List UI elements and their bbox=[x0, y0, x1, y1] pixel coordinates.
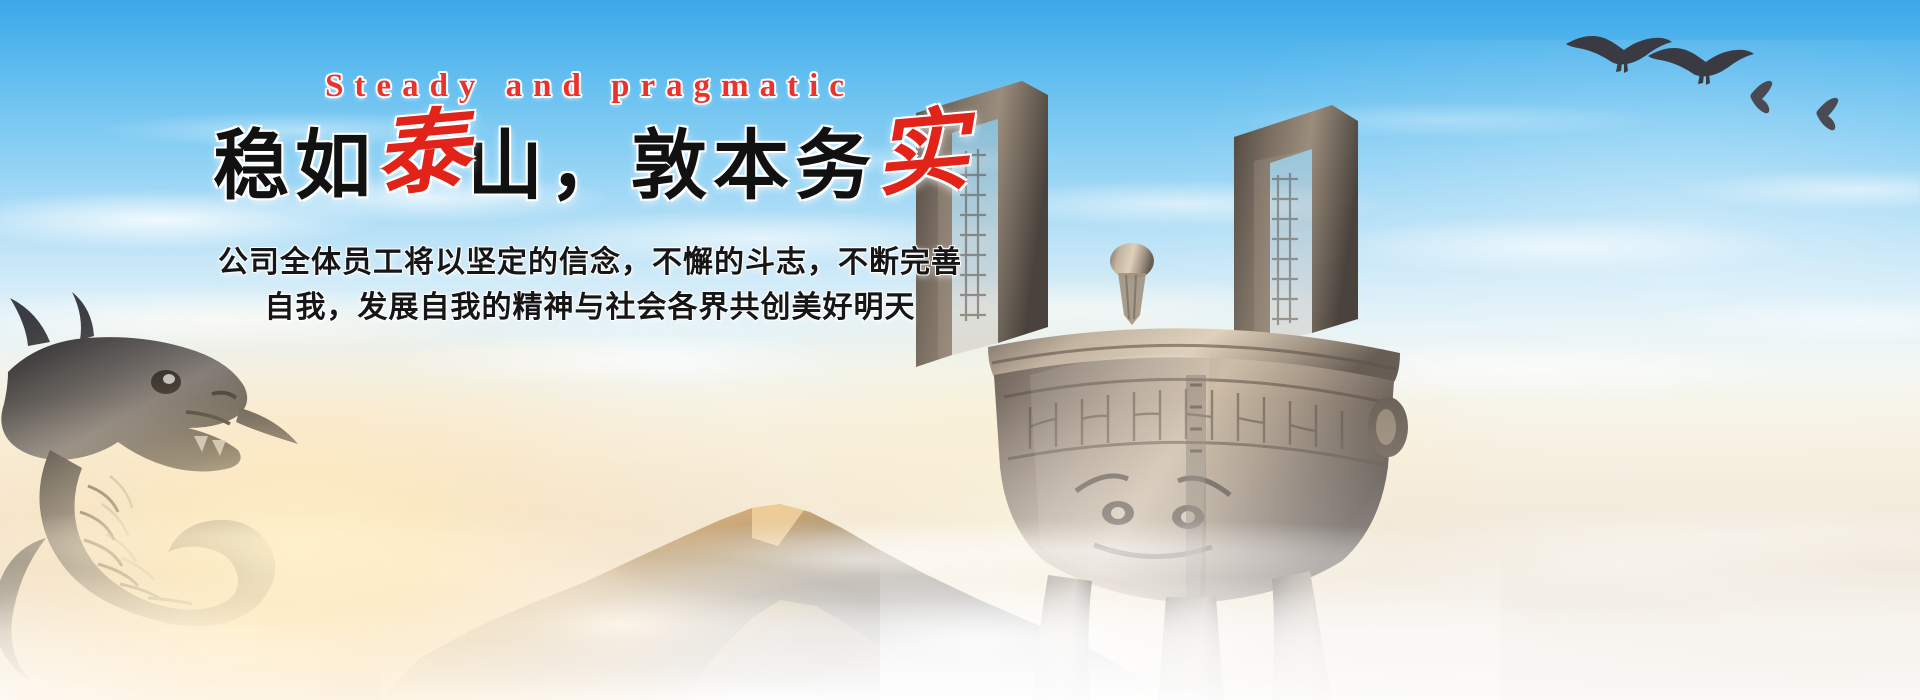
dragon-sculpture bbox=[0, 290, 320, 700]
subtitle-line-2: 自我，发展自我的精神与社会各界共创美好明天 bbox=[0, 285, 1180, 331]
bird-icon bbox=[1817, 98, 1839, 130]
headline-part-1: 稳如 bbox=[213, 124, 377, 209]
subtitle-line-1: 公司全体员工将以坚定的信念，不懈的斗志，不断完善 bbox=[218, 246, 962, 279]
hero-text-block: Steady and pragmatic 稳如泰山，敦本务实 公司全体员工将以坚… bbox=[0, 68, 1180, 331]
subtitle-chinese: 公司全体员工将以坚定的信念，不懈的斗志，不断完善自我，发展自我的精神与社会各界共… bbox=[0, 240, 1180, 331]
ding-handle-right bbox=[1234, 105, 1358, 361]
headline-accent-shi: 实 bbox=[870, 101, 972, 210]
hero-banner: Steady and pragmatic 稳如泰山，敦本务实 公司全体员工将以坚… bbox=[0, 0, 1920, 700]
tagline-english: Steady and pragmatic bbox=[0, 68, 1180, 105]
headline-part-2: 山，敦本务 bbox=[467, 124, 877, 209]
ding-side-boss bbox=[1368, 397, 1408, 457]
headline-chinese: 稳如泰山，敦本务实 bbox=[0, 113, 1180, 214]
bird-icon bbox=[1648, 48, 1754, 85]
flying-birds-group bbox=[1500, 0, 1920, 140]
headline-accent-tai: 泰 bbox=[370, 101, 472, 210]
bird-icon bbox=[1751, 81, 1773, 113]
